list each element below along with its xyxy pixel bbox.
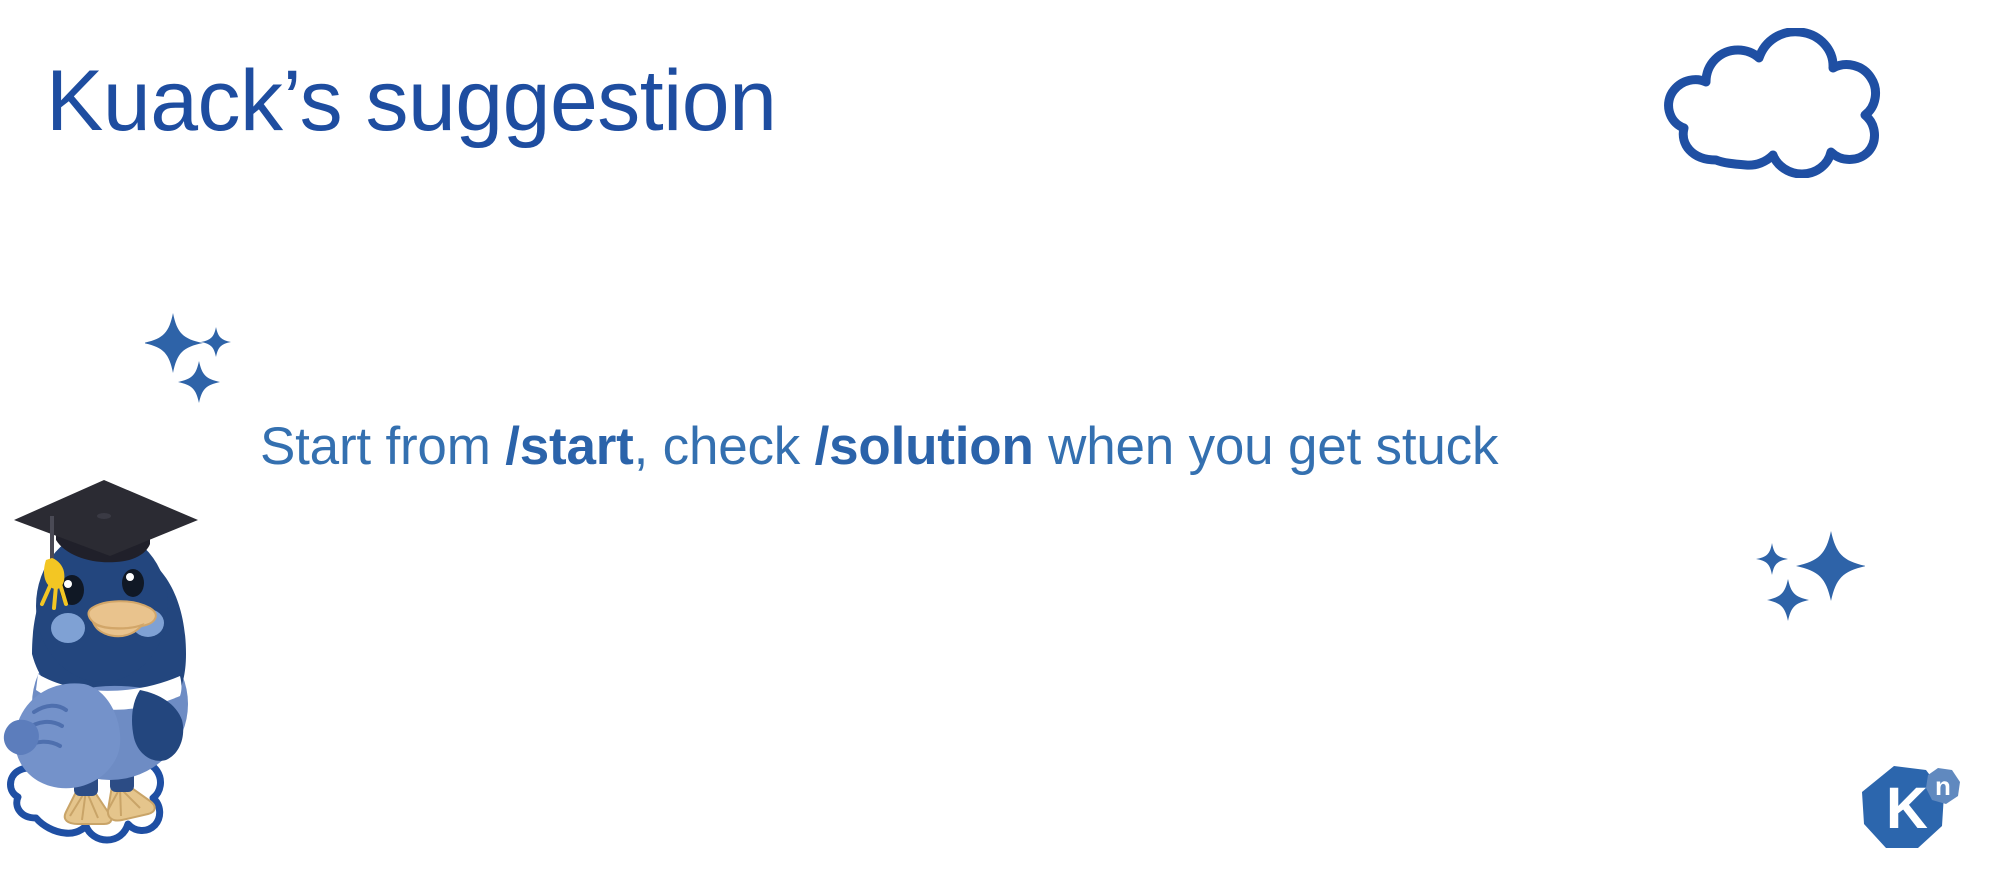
- body-segment-2: , check: [634, 417, 815, 476]
- command-start: /start: [505, 417, 633, 476]
- mascot-cheek-left: [51, 613, 85, 643]
- page-title: Kuack’s suggestion: [46, 58, 776, 144]
- slide-canvas: Kuack’s suggestion Start from /start, ch…: [0, 0, 1999, 878]
- logo-letter-n: n: [1935, 771, 1951, 801]
- logo-letter-k: K: [1886, 776, 1928, 841]
- body-segment-3: when you get stuck: [1034, 417, 1499, 476]
- body-segment-1: Start from: [260, 417, 505, 476]
- command-solution: /solution: [815, 417, 1034, 476]
- cloud-icon: [1658, 28, 1884, 178]
- brand-logo: K n: [1856, 762, 1968, 862]
- body-text: Start from /start, check /solution when …: [260, 418, 1498, 476]
- kuack-mascot-illustration: [0, 468, 215, 860]
- sparkle-cluster-right-icon: [1755, 525, 1865, 625]
- sparkle-cluster-left-icon: [145, 305, 245, 405]
